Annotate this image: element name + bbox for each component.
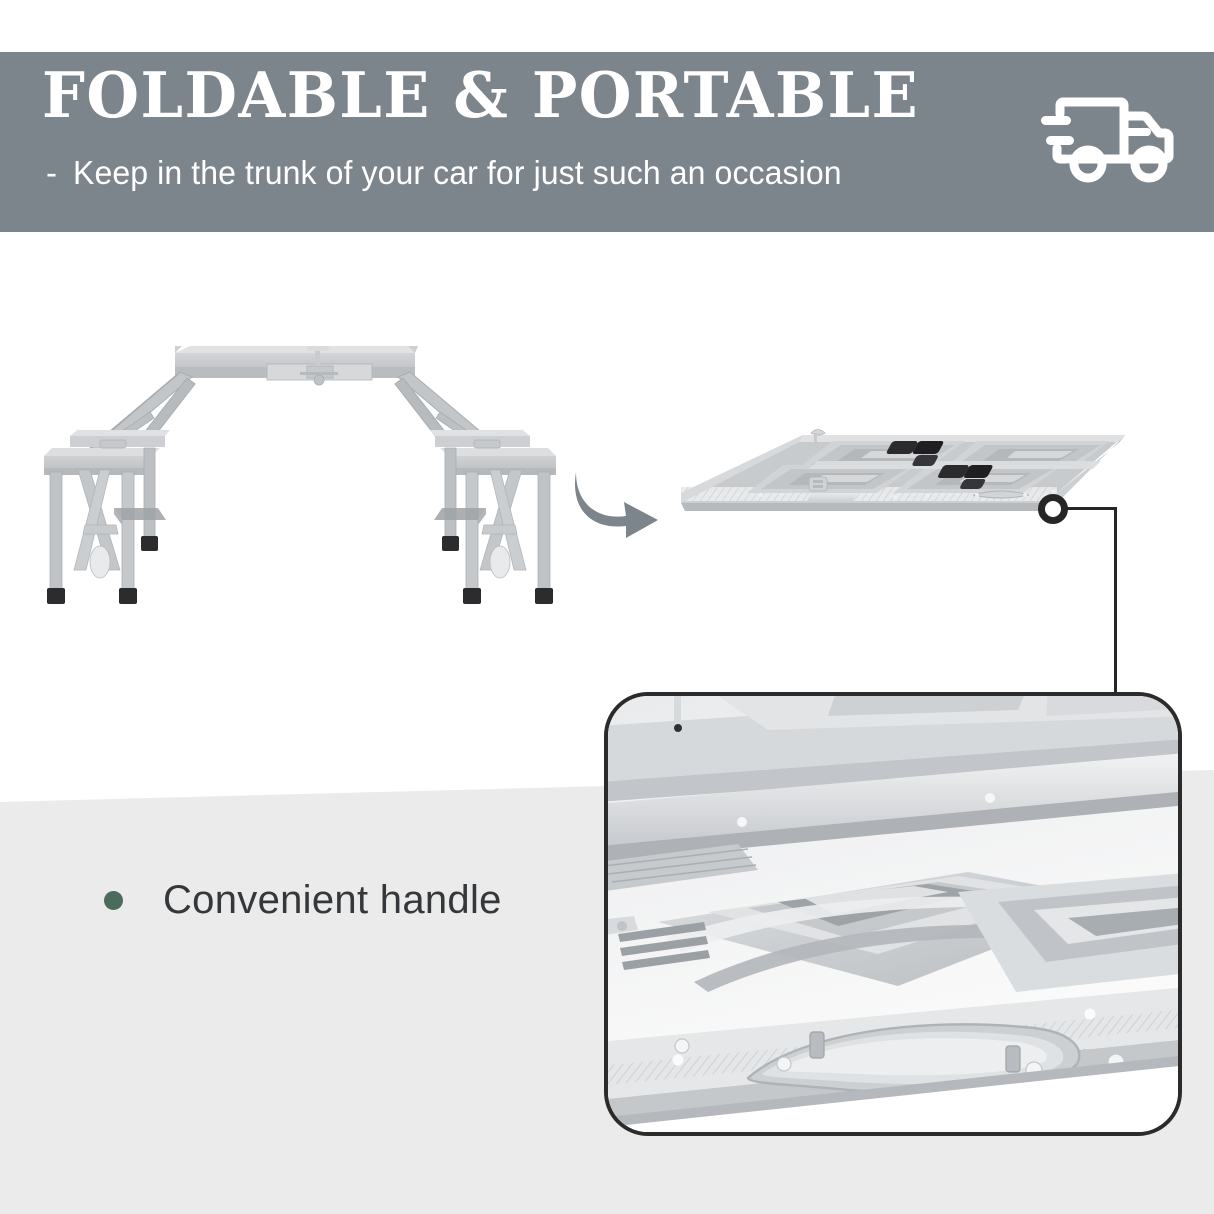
header-subtitle: Keep in the trunk of your car for just s… xyxy=(73,156,842,189)
curved-arrow-icon xyxy=(570,458,680,540)
infographic-page: FOLDABLE & PORTABLE - Keep in the trunk … xyxy=(0,0,1214,1214)
handle-closeup-image xyxy=(604,692,1182,1136)
callout-leader-horizontal xyxy=(1064,507,1117,510)
callout-leader-vertical xyxy=(1114,507,1117,697)
product-image-folded xyxy=(665,425,1185,550)
delivery-truck-icon xyxy=(1036,80,1186,190)
page-title: FOLDABLE & PORTABLE xyxy=(42,64,919,127)
header-banner: FOLDABLE & PORTABLE - Keep in the trunk … xyxy=(0,52,1214,232)
bullet-dot-icon xyxy=(104,891,123,910)
product-image-unfolded xyxy=(30,320,570,620)
header-subtitle-row: - Keep in the trunk of your car for just… xyxy=(46,156,865,189)
subtitle-dash: - xyxy=(46,156,57,189)
feature-bullet: Convenient handle xyxy=(104,880,502,920)
feature-bullet-label: Convenient handle xyxy=(163,880,502,920)
detail-inset-panel xyxy=(604,692,1182,1136)
